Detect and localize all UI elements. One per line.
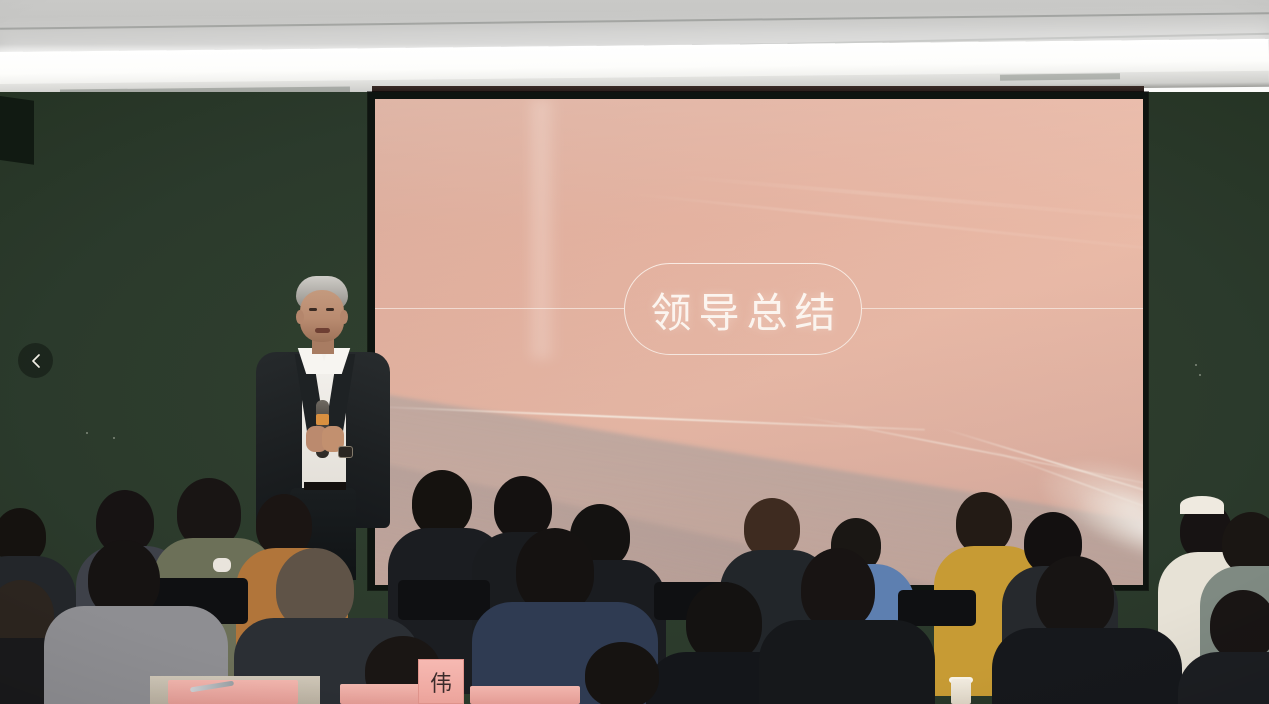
photo-canvas: 领导总结 (0, 0, 1269, 704)
presenter-eye (326, 308, 334, 311)
person-head (256, 494, 312, 556)
person-body (992, 628, 1182, 704)
chair-back (898, 590, 976, 626)
chevron-left-icon (29, 353, 43, 369)
chair-back (398, 580, 490, 620)
audience (0, 430, 1269, 704)
slide-light-streak (676, 175, 1143, 220)
slide-light-streak (626, 192, 1143, 249)
name-placard-text: 伟 (430, 666, 452, 698)
slide-rule-left (375, 308, 624, 309)
person-head (956, 492, 1012, 554)
slide-rule-right (862, 308, 1143, 309)
desk-paper (470, 686, 580, 704)
person-head (686, 582, 762, 662)
wall-corner-shadow (0, 96, 34, 165)
ceiling-seam (0, 12, 1269, 30)
cup (951, 679, 971, 704)
slide-title-pill: 领导总结 (624, 263, 862, 355)
person-head (744, 498, 800, 558)
person-head (585, 642, 659, 704)
headband (1180, 496, 1224, 514)
person-head (1222, 512, 1269, 574)
person-body (759, 620, 935, 704)
slide-title: 领导总结 (644, 279, 843, 339)
face-mask (213, 558, 231, 572)
presenter-head (300, 290, 344, 342)
previous-image-button[interactable] (18, 343, 53, 378)
person-head (801, 548, 875, 630)
presenter-ear (340, 310, 348, 324)
person-head (1210, 590, 1269, 660)
person-head (1036, 556, 1114, 638)
presenter-mouth (315, 328, 330, 333)
person-head (412, 470, 472, 536)
presenter-eye (309, 308, 317, 311)
name-placard: 伟 (418, 659, 464, 704)
projector-smear (525, 99, 559, 359)
microphone-band (316, 414, 329, 425)
presenter-ear (296, 310, 304, 324)
